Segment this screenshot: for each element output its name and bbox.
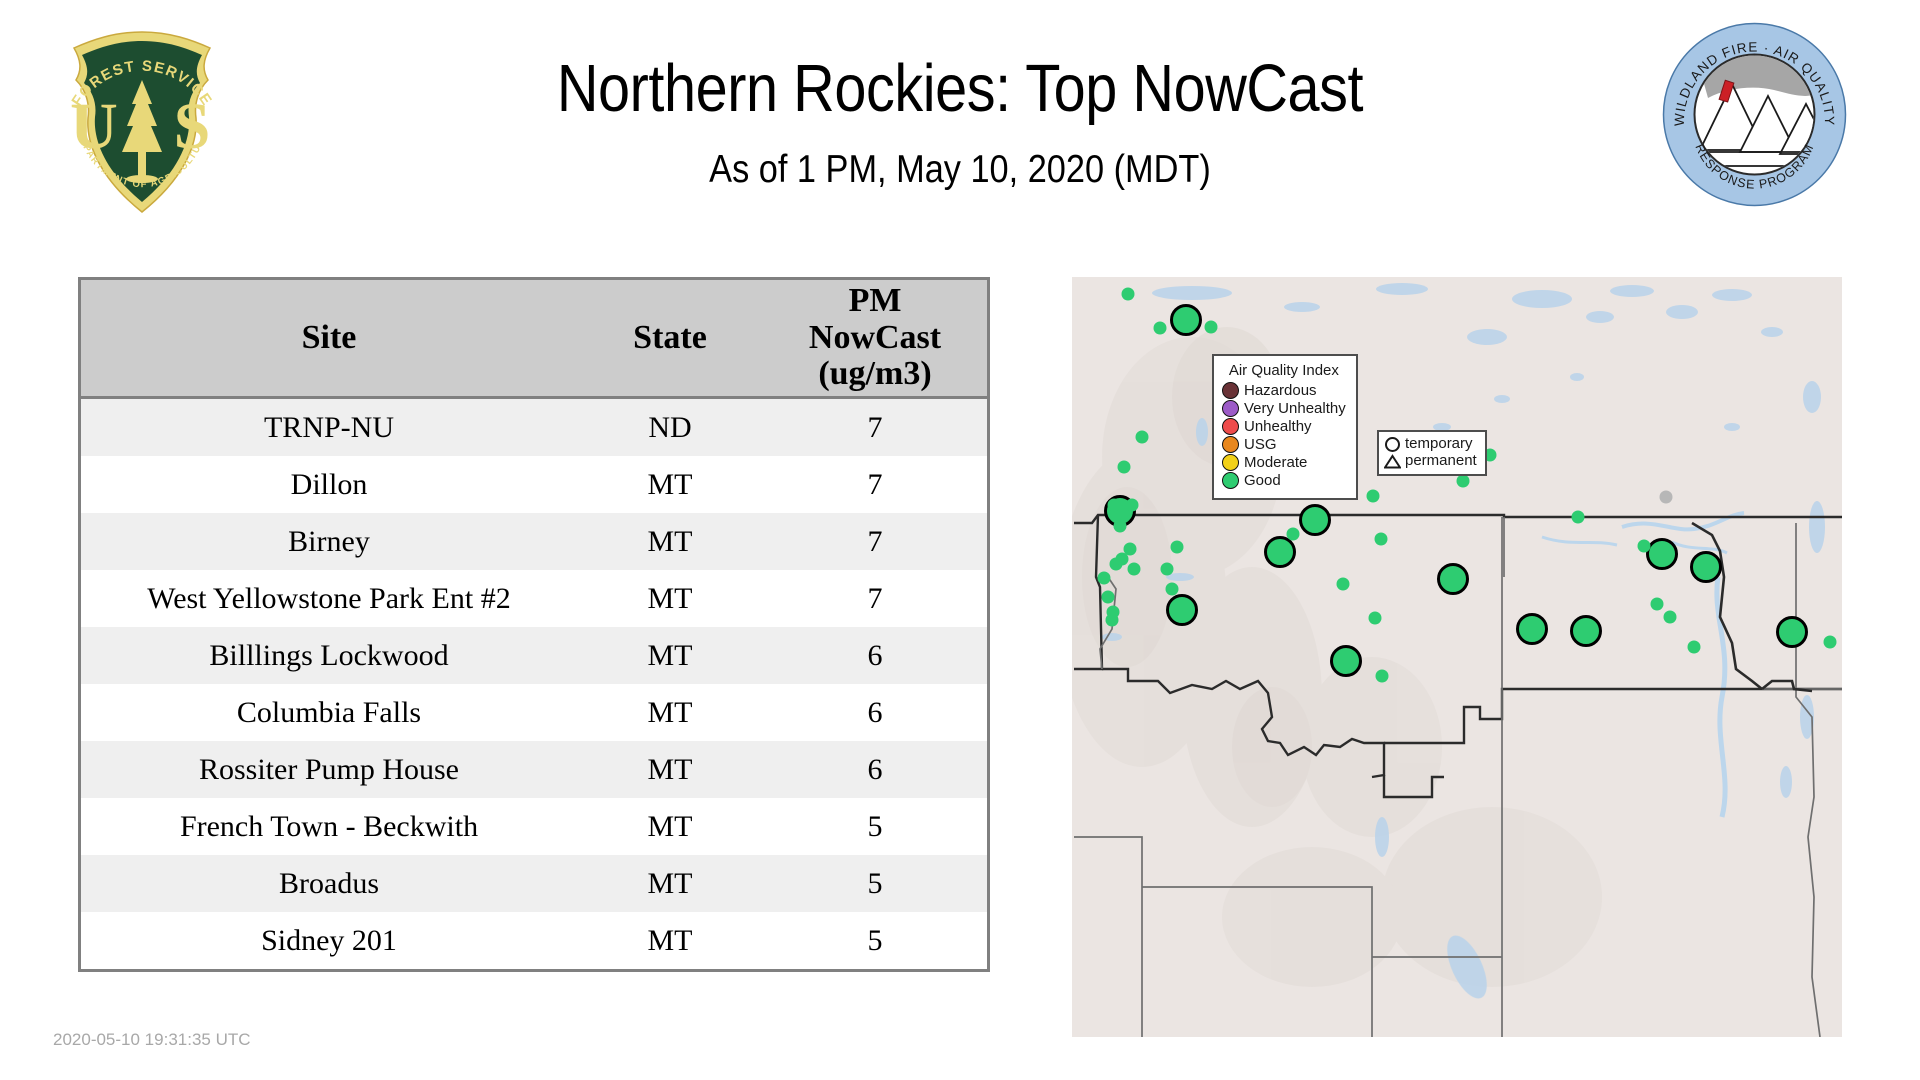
map-monitor-marker[interactable] (1122, 288, 1135, 301)
table-cell-pm-nowcast: 5 (763, 912, 989, 971)
table-cell-site: Columbia Falls (80, 684, 578, 741)
table-cell-state: MT (577, 513, 763, 570)
table-cell-site: Birney (80, 513, 578, 570)
table-cell-pm-nowcast: 5 (763, 798, 989, 855)
map-monitor-marker[interactable] (1166, 583, 1179, 596)
column-header-pm-line-2: NowCast (763, 320, 987, 357)
map-monitor-marker[interactable] (1107, 606, 1120, 619)
table-cell-site: Sidney 201 (80, 912, 578, 971)
top-nowcast-table: Site State PM NowCast (ug/m3) TRNP-NUND7… (78, 277, 990, 972)
map-monitor-marker[interactable] (1154, 322, 1167, 335)
column-header-site: Site (80, 279, 578, 398)
table-row: Sidney 201MT5 (80, 912, 989, 971)
map-monitor-marker[interactable] (1166, 594, 1198, 626)
site-type-labels: temporary permanent (1405, 436, 1477, 470)
site-type-label-temporary: temporary (1405, 436, 1477, 453)
usda-forest-service-logo: FOREST SERVICE DEPARTMENT OF AGRICULTURE… (52, 22, 232, 220)
wildland-fire-air-quality-response-program-logo: WILDLAND FIRE · AIR QUALITY RESPONSE PRO… (1662, 22, 1847, 207)
aqi-legend-row: Hazardous (1222, 382, 1346, 399)
table-cell-site: Broadus (80, 855, 578, 912)
site-type-glyphs (1384, 436, 1401, 469)
aqi-swatch-icon (1222, 436, 1239, 453)
air-quality-index-legend: Air Quality Index HazardousVery Unhealth… (1212, 354, 1358, 500)
map-monitor-marker[interactable] (1124, 543, 1137, 556)
map-monitor-marker[interactable] (1651, 598, 1664, 611)
map-monitor-marker[interactable] (1516, 613, 1548, 645)
column-header-state: State (577, 279, 763, 398)
page-header: FOREST SERVICE DEPARTMENT OF AGRICULTURE… (0, 0, 1920, 225)
table-cell-pm-nowcast: 6 (763, 741, 989, 798)
permanent-triangle-icon (1384, 454, 1401, 469)
map-monitor-marker[interactable] (1570, 615, 1602, 647)
map-monitor-marker[interactable] (1287, 528, 1300, 541)
table-row: BirneyMT7 (80, 513, 989, 570)
aqi-legend-label: Good (1244, 473, 1281, 488)
table-row: Rossiter Pump HouseMT6 (80, 741, 989, 798)
column-header-pm-line-1: PM (763, 283, 987, 320)
map-monitor-marker[interactable] (1108, 499, 1121, 512)
table-row: DillonMT7 (80, 456, 989, 513)
map-monitor-marker[interactable] (1660, 491, 1673, 504)
table-cell-pm-nowcast: 7 (763, 570, 989, 627)
aqi-legend-label: Unhealthy (1244, 419, 1312, 434)
map-monitor-marker[interactable] (1118, 461, 1131, 474)
table-cell-pm-nowcast: 5 (763, 855, 989, 912)
table-row: French Town - BeckwithMT5 (80, 798, 989, 855)
map-monitor-marker[interactable] (1437, 563, 1469, 595)
table-cell-state: MT (577, 912, 763, 971)
table-cell-pm-nowcast: 6 (763, 627, 989, 684)
table-header-row: Site State PM NowCast (ug/m3) (80, 279, 989, 398)
table-row: TRNP-NUND7 (80, 398, 989, 457)
table-cell-state: MT (577, 627, 763, 684)
temporary-circle-icon (1384, 436, 1401, 453)
table-cell-pm-nowcast: 7 (763, 513, 989, 570)
table-cell-state: MT (577, 570, 763, 627)
map-monitor-marker[interactable] (1098, 572, 1111, 585)
aqi-swatch-icon (1222, 400, 1239, 417)
column-header-pm-nowcast: PM NowCast (ug/m3) (763, 279, 989, 398)
map-monitor-marker[interactable] (1126, 499, 1139, 512)
page-subtitle: As of 1 PM, May 10, 2020 (MDT) (344, 148, 1576, 192)
aqi-legend-row: Good (1222, 472, 1346, 489)
map-monitor-marker[interactable] (1337, 578, 1350, 591)
table-cell-site: Dillon (80, 456, 578, 513)
map-monitor-marker[interactable] (1638, 540, 1651, 553)
map-monitor-marker[interactable] (1376, 670, 1389, 683)
map-monitor-marker[interactable] (1136, 431, 1149, 444)
map-monitor-marker[interactable] (1690, 551, 1722, 583)
map-monitor-marker[interactable] (1161, 563, 1174, 576)
table-row: Billlings LockwoodMT6 (80, 627, 989, 684)
table-cell-site: TRNP-NU (80, 398, 578, 457)
map-monitor-marker[interactable] (1171, 541, 1184, 554)
table-cell-state: MT (577, 855, 763, 912)
aqi-legend-label: USG (1244, 437, 1277, 452)
generated-timestamp: 2020-05-10 19:31:35 UTC (53, 1030, 251, 1050)
aqi-swatch-icon (1222, 418, 1239, 435)
map-monitor-marker[interactable] (1205, 321, 1218, 334)
map-monitor-marker[interactable] (1664, 611, 1677, 624)
map-monitor-marker[interactable] (1572, 511, 1585, 524)
table-cell-pm-nowcast: 6 (763, 684, 989, 741)
table-row: West Yellowstone Park Ent #2MT7 (80, 570, 989, 627)
svg-text:S: S (174, 90, 211, 163)
aqi-legend-row: USG (1222, 436, 1346, 453)
aqi-swatch-icon (1222, 454, 1239, 471)
aqi-legend-title: Air Quality Index (1222, 362, 1346, 379)
column-header-pm-line-3: (ug/m3) (763, 356, 987, 393)
table-cell-state: MT (577, 798, 763, 855)
table-body: TRNP-NUND7DillonMT7BirneyMT7West Yellows… (80, 398, 989, 971)
map-monitor-marker[interactable] (1299, 504, 1331, 536)
table-cell-pm-nowcast: 7 (763, 398, 989, 457)
map-monitor-marker[interactable] (1369, 612, 1382, 625)
aqi-legend-row: Moderate (1222, 454, 1346, 471)
map-monitor-marker[interactable] (1330, 645, 1362, 677)
map-monitor-marker[interactable] (1102, 591, 1115, 604)
site-type-legend: temporary permanent (1377, 430, 1487, 476)
table-cell-pm-nowcast: 7 (763, 456, 989, 513)
map-monitor-marker[interactable] (1264, 536, 1296, 568)
aqi-legend-items: HazardousVery UnhealthyUnhealthyUSGModer… (1222, 382, 1346, 489)
air-quality-monitor-map[interactable]: Air Quality Index HazardousVery Unhealth… (1072, 277, 1842, 1037)
aqi-legend-label: Moderate (1244, 455, 1307, 470)
table-cell-state: MT (577, 684, 763, 741)
aqi-swatch-icon (1222, 472, 1239, 489)
map-monitor-marker[interactable] (1824, 636, 1837, 649)
map-monitor-marker[interactable] (1688, 641, 1701, 654)
map-monitor-marker[interactable] (1128, 563, 1141, 576)
aqi-legend-label: Hazardous (1244, 383, 1317, 398)
svg-text:U: U (70, 90, 118, 163)
map-monitor-marker[interactable] (1457, 475, 1470, 488)
map-monitor-marker[interactable] (1646, 538, 1678, 570)
map-monitor-marker[interactable] (1170, 304, 1202, 336)
table-cell-site: West Yellowstone Park Ent #2 (80, 570, 578, 627)
table-cell-site: French Town - Beckwith (80, 798, 578, 855)
site-type-label-permanent: permanent (1405, 453, 1477, 470)
table-row: Columbia FallsMT6 (80, 684, 989, 741)
map-monitor-marker[interactable] (1367, 490, 1380, 503)
map-monitor-marker[interactable] (1776, 616, 1808, 648)
map-terrain-layer (1072, 277, 1842, 1037)
page-title: Northern Rockies: Top NowCast (358, 50, 1562, 127)
top-nowcast-table-container: Site State PM NowCast (ug/m3) TRNP-NUND7… (78, 277, 990, 972)
table-cell-state: MT (577, 741, 763, 798)
aqi-swatch-icon (1222, 382, 1239, 399)
map-monitor-marker[interactable] (1114, 520, 1127, 533)
aqi-legend-row: Unhealthy (1222, 418, 1346, 435)
aqi-legend-row: Very Unhealthy (1222, 400, 1346, 417)
table-cell-site: Billlings Lockwood (80, 627, 578, 684)
table-cell-state: ND (577, 398, 763, 457)
table-row: BroadusMT5 (80, 855, 989, 912)
table-cell-site: Rossiter Pump House (80, 741, 578, 798)
aqi-legend-label: Very Unhealthy (1244, 401, 1346, 416)
table-cell-state: MT (577, 456, 763, 513)
map-monitor-marker[interactable] (1375, 533, 1388, 546)
